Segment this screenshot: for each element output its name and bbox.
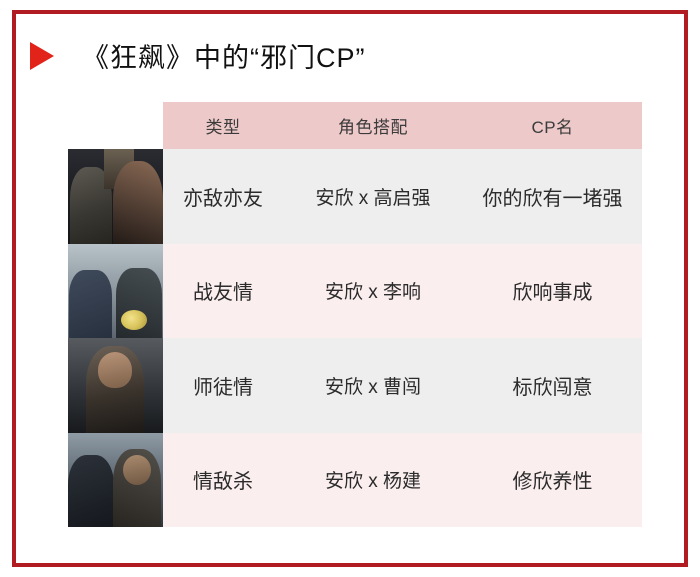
play-triangle-icon bbox=[30, 42, 54, 70]
photo-3-face bbox=[98, 352, 132, 388]
cell-pair: 安欣 x 杨建 bbox=[283, 433, 463, 528]
photo-row-2 bbox=[68, 244, 163, 339]
table-row: 亦敌亦友 安欣 x 高启强 你的欣有一堵强 bbox=[163, 149, 642, 244]
cell-cpname: 标欣闯意 bbox=[463, 338, 642, 433]
table-row: 情敌杀 安欣 x 杨建 修欣养性 bbox=[163, 433, 642, 528]
cell-pair: 安欣 x 李响 bbox=[283, 244, 463, 339]
photo-row-4 bbox=[68, 433, 163, 528]
cell-type: 战友情 bbox=[163, 244, 283, 339]
table-row: 战友情 安欣 x 李响 欣响事成 bbox=[163, 244, 642, 339]
table-header: 类型 角色搭配 CP名 bbox=[163, 102, 642, 149]
column-header-pair: 角色搭配 bbox=[283, 102, 463, 149]
cp-table: 类型 角色搭配 CP名 亦敌亦友 安欣 x 高启强 你的欣有一堵强 战友情 安欣… bbox=[163, 102, 642, 527]
cell-pair: 安欣 x 高启强 bbox=[283, 149, 463, 244]
cell-cpname: 修欣养性 bbox=[463, 433, 642, 528]
cell-type: 师徒情 bbox=[163, 338, 283, 433]
table-header-row: 类型 角色搭配 CP名 bbox=[163, 102, 642, 149]
cell-cpname: 欣响事成 bbox=[463, 244, 642, 339]
column-header-type: 类型 bbox=[163, 102, 283, 149]
photo-4-face bbox=[123, 455, 151, 485]
photo-2-flowers bbox=[121, 310, 147, 330]
photo-1-background bbox=[104, 149, 134, 189]
cell-type: 情敌杀 bbox=[163, 433, 283, 528]
slide-page: 《狂飙》中的“邪门CP” 类型 角色搭配 CP名 bbox=[0, 0, 700, 577]
slide-header: 《狂飙》中的“邪门CP” bbox=[30, 36, 366, 75]
table-row: 师徒情 安欣 x 曹闯 标欣闯意 bbox=[163, 338, 642, 433]
photo-column bbox=[68, 149, 163, 527]
photo-row-1 bbox=[68, 149, 163, 244]
photo-row-3 bbox=[68, 338, 163, 433]
table-body: 亦敌亦友 安欣 x 高启强 你的欣有一堵强 战友情 安欣 x 李响 欣响事成 师… bbox=[163, 149, 642, 527]
column-header-cpname: CP名 bbox=[463, 102, 642, 149]
cell-cpname: 你的欣有一堵强 bbox=[463, 149, 642, 244]
page-title: 《狂飙》中的“邪门CP” bbox=[82, 36, 366, 75]
content-area: 类型 角色搭配 CP名 亦敌亦友 安欣 x 高启强 你的欣有一堵强 战友情 安欣… bbox=[68, 102, 642, 527]
cell-type: 亦敌亦友 bbox=[163, 149, 283, 244]
cell-pair: 安欣 x 曹闯 bbox=[283, 338, 463, 433]
